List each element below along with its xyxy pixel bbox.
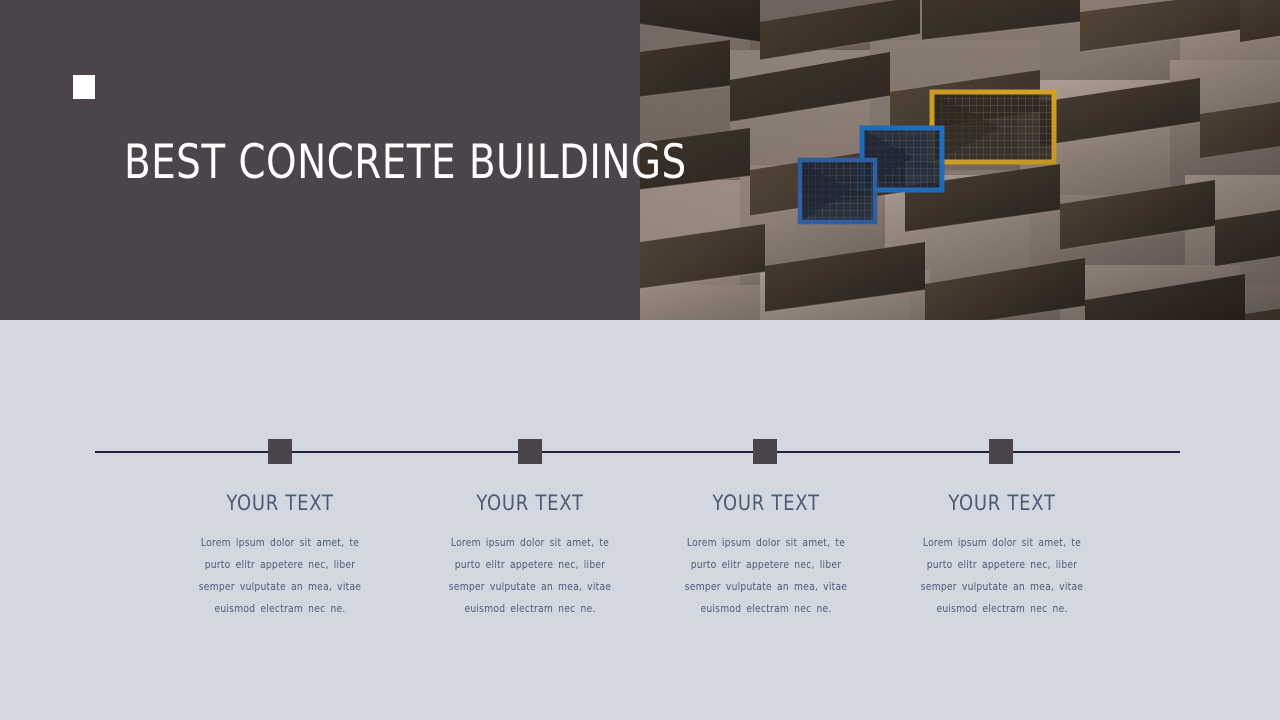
- body-line: euismod electram nec ne.: [166, 598, 395, 620]
- body-line: purto elitr appetere nec, liber: [166, 554, 395, 576]
- body-line: Lorem ipsum dolor sit amet, te: [652, 532, 881, 554]
- body-line: purto elitr appetere nec, liber: [416, 554, 645, 576]
- timeline-marker-4[interactable]: [989, 439, 1013, 464]
- body-line: semper vulputate an mea, vitae: [888, 576, 1117, 598]
- body-line: Lorem ipsum dolor sit amet, te: [416, 532, 645, 554]
- body-line: Lorem ipsum dolor sit amet, te: [888, 532, 1117, 554]
- body-line: euismod electram nec ne.: [888, 598, 1117, 620]
- body-line: semper vulputate an mea, vitae: [652, 576, 881, 598]
- body-line: purto elitr appetere nec, liber: [652, 554, 881, 576]
- timeline-item-title: YOUR TEXT: [890, 490, 1114, 516]
- hero-photo: [640, 0, 1280, 320]
- timeline-item-body: Lorem ipsum dolor sit amet, te purto eli…: [888, 532, 1117, 620]
- timeline-item-3: YOUR TEXT Lorem ipsum dolor sit amet, te…: [648, 490, 884, 620]
- page-title: BEST CONCRETE BUILDINGS: [124, 132, 602, 194]
- body-line: semper vulputate an mea, vitae: [166, 576, 395, 598]
- timeline-item-body: Lorem ipsum dolor sit amet, te purto eli…: [416, 532, 645, 620]
- accent-square-icon: [73, 75, 95, 99]
- timeline-item-title: YOUR TEXT: [418, 490, 642, 516]
- timeline-marker-2[interactable]: [518, 439, 542, 464]
- presentation-slide: BEST CONCRETE BUILDINGS YOUR TEXT Lorem …: [0, 0, 1280, 720]
- timeline-item-4: YOUR TEXT Lorem ipsum dolor sit amet, te…: [884, 490, 1120, 620]
- timeline-item-body: Lorem ipsum dolor sit amet, te purto eli…: [652, 532, 881, 620]
- body-line: Lorem ipsum dolor sit amet, te: [166, 532, 395, 554]
- timeline-axis: [95, 451, 1180, 453]
- body-line: euismod electram nec ne.: [416, 598, 645, 620]
- timeline-marker-3[interactable]: [753, 439, 777, 464]
- body-line: semper vulputate an mea, vitae: [416, 576, 645, 598]
- timeline-item-title: YOUR TEXT: [168, 490, 392, 516]
- timeline-item-2: YOUR TEXT Lorem ipsum dolor sit amet, te…: [412, 490, 648, 620]
- body-line: euismod electram nec ne.: [652, 598, 881, 620]
- body-line: purto elitr appetere nec, liber: [888, 554, 1117, 576]
- timeline-item-body: Lorem ipsum dolor sit amet, te purto eli…: [166, 532, 395, 620]
- concrete-facade-illustration: [640, 0, 1280, 320]
- timeline-item-title: YOUR TEXT: [654, 490, 878, 516]
- timeline-marker-1[interactable]: [268, 439, 292, 464]
- timeline-item-1: YOUR TEXT Lorem ipsum dolor sit amet, te…: [162, 490, 398, 620]
- hero-section: BEST CONCRETE BUILDINGS: [0, 0, 1280, 320]
